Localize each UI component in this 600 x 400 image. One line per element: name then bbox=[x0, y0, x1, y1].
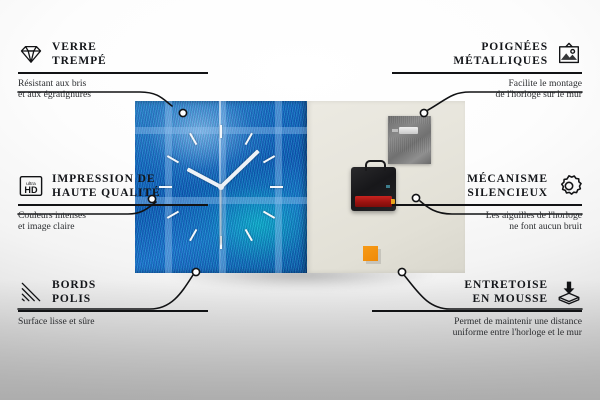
callout-title: ENTRETOISEEN MOUSSE bbox=[464, 278, 548, 306]
foam-spacer-icon bbox=[556, 279, 582, 305]
callout-description: Permet de maintenir une distanceuniforme… bbox=[372, 316, 582, 339]
mechanism-indicator bbox=[386, 185, 390, 188]
callout-description: Facilite le montagede l'horloge sur le m… bbox=[392, 78, 582, 101]
infographic-canvas: VERRETREMPÉ Résistant aux briset aux égr… bbox=[0, 0, 600, 400]
battery bbox=[355, 196, 392, 207]
clock-tick bbox=[220, 125, 222, 187]
callout-title: POIGNÉESMÉTALLIQUES bbox=[453, 40, 548, 68]
callout-header: MÉCANISMESILENCIEUX bbox=[392, 172, 582, 200]
svg-text:HD: HD bbox=[24, 185, 38, 195]
callout-rule bbox=[18, 204, 208, 206]
gear-icon bbox=[556, 173, 582, 199]
callout-verre-trempe[interactable]: VERRETREMPÉ Résistant aux briset aux égr… bbox=[18, 40, 208, 101]
callout-rule bbox=[18, 72, 208, 74]
callout-poignees-metalliques[interactable]: POIGNÉESMÉTALLIQUES Facilite le montaged… bbox=[392, 40, 582, 101]
mechanism-hook bbox=[365, 160, 386, 171]
ultra-hd-icon: ultra HD bbox=[18, 173, 44, 199]
polished-edge-icon bbox=[18, 279, 44, 305]
callout-header: VERRETREMPÉ bbox=[18, 40, 208, 68]
callout-header: ultra HD IMPRESSION DEHAUTE QUALITÉ bbox=[18, 172, 208, 200]
callout-header: ENTRETOISEEN MOUSSE bbox=[372, 278, 582, 306]
metal-hanger-plate bbox=[388, 116, 431, 164]
callout-title: VERRETREMPÉ bbox=[52, 40, 107, 68]
callout-bords-polis[interactable]: BORDSPOLIS Surface lisse et sûre bbox=[18, 278, 208, 327]
callout-header: BORDSPOLIS bbox=[18, 278, 208, 306]
clock-center-pin bbox=[218, 184, 224, 190]
callout-title: IMPRESSION DEHAUTE QUALITÉ bbox=[52, 172, 161, 200]
callout-description: Surface lisse et sûre bbox=[18, 316, 208, 328]
hanger-slot bbox=[399, 127, 418, 134]
callout-description: Couleurs intenseset image claire bbox=[18, 210, 208, 233]
clock-tick bbox=[221, 186, 283, 188]
diamond-icon bbox=[18, 41, 44, 67]
callout-description: Résistant aux briset aux égratignures bbox=[18, 78, 208, 101]
hanging-frame-icon bbox=[556, 41, 582, 67]
callout-title: BORDSPOLIS bbox=[52, 278, 96, 306]
callout-header: POIGNÉESMÉTALLIQUES bbox=[392, 40, 582, 68]
callout-rule bbox=[392, 204, 582, 206]
callout-title: MÉCANISMESILENCIEUX bbox=[467, 172, 548, 200]
callout-description: Les aiguilles de l'horlogene font aucun … bbox=[392, 210, 582, 233]
callout-mecanisme-silencieux[interactable]: MÉCANISMESILENCIEUX Les aiguilles de l'h… bbox=[392, 172, 582, 233]
clock-mechanism-box bbox=[351, 167, 396, 211]
callout-rule bbox=[372, 310, 582, 312]
callout-rule bbox=[392, 72, 582, 74]
foam-spacer bbox=[363, 246, 378, 261]
callout-rule bbox=[18, 310, 208, 312]
callout-entretoise-en-mousse[interactable]: ENTRETOISEEN MOUSSE Permet de maintenir … bbox=[372, 278, 582, 339]
callout-impression-haute-qualite[interactable]: ultra HD IMPRESSION DEHAUTE QUALITÉ Coul… bbox=[18, 172, 208, 233]
